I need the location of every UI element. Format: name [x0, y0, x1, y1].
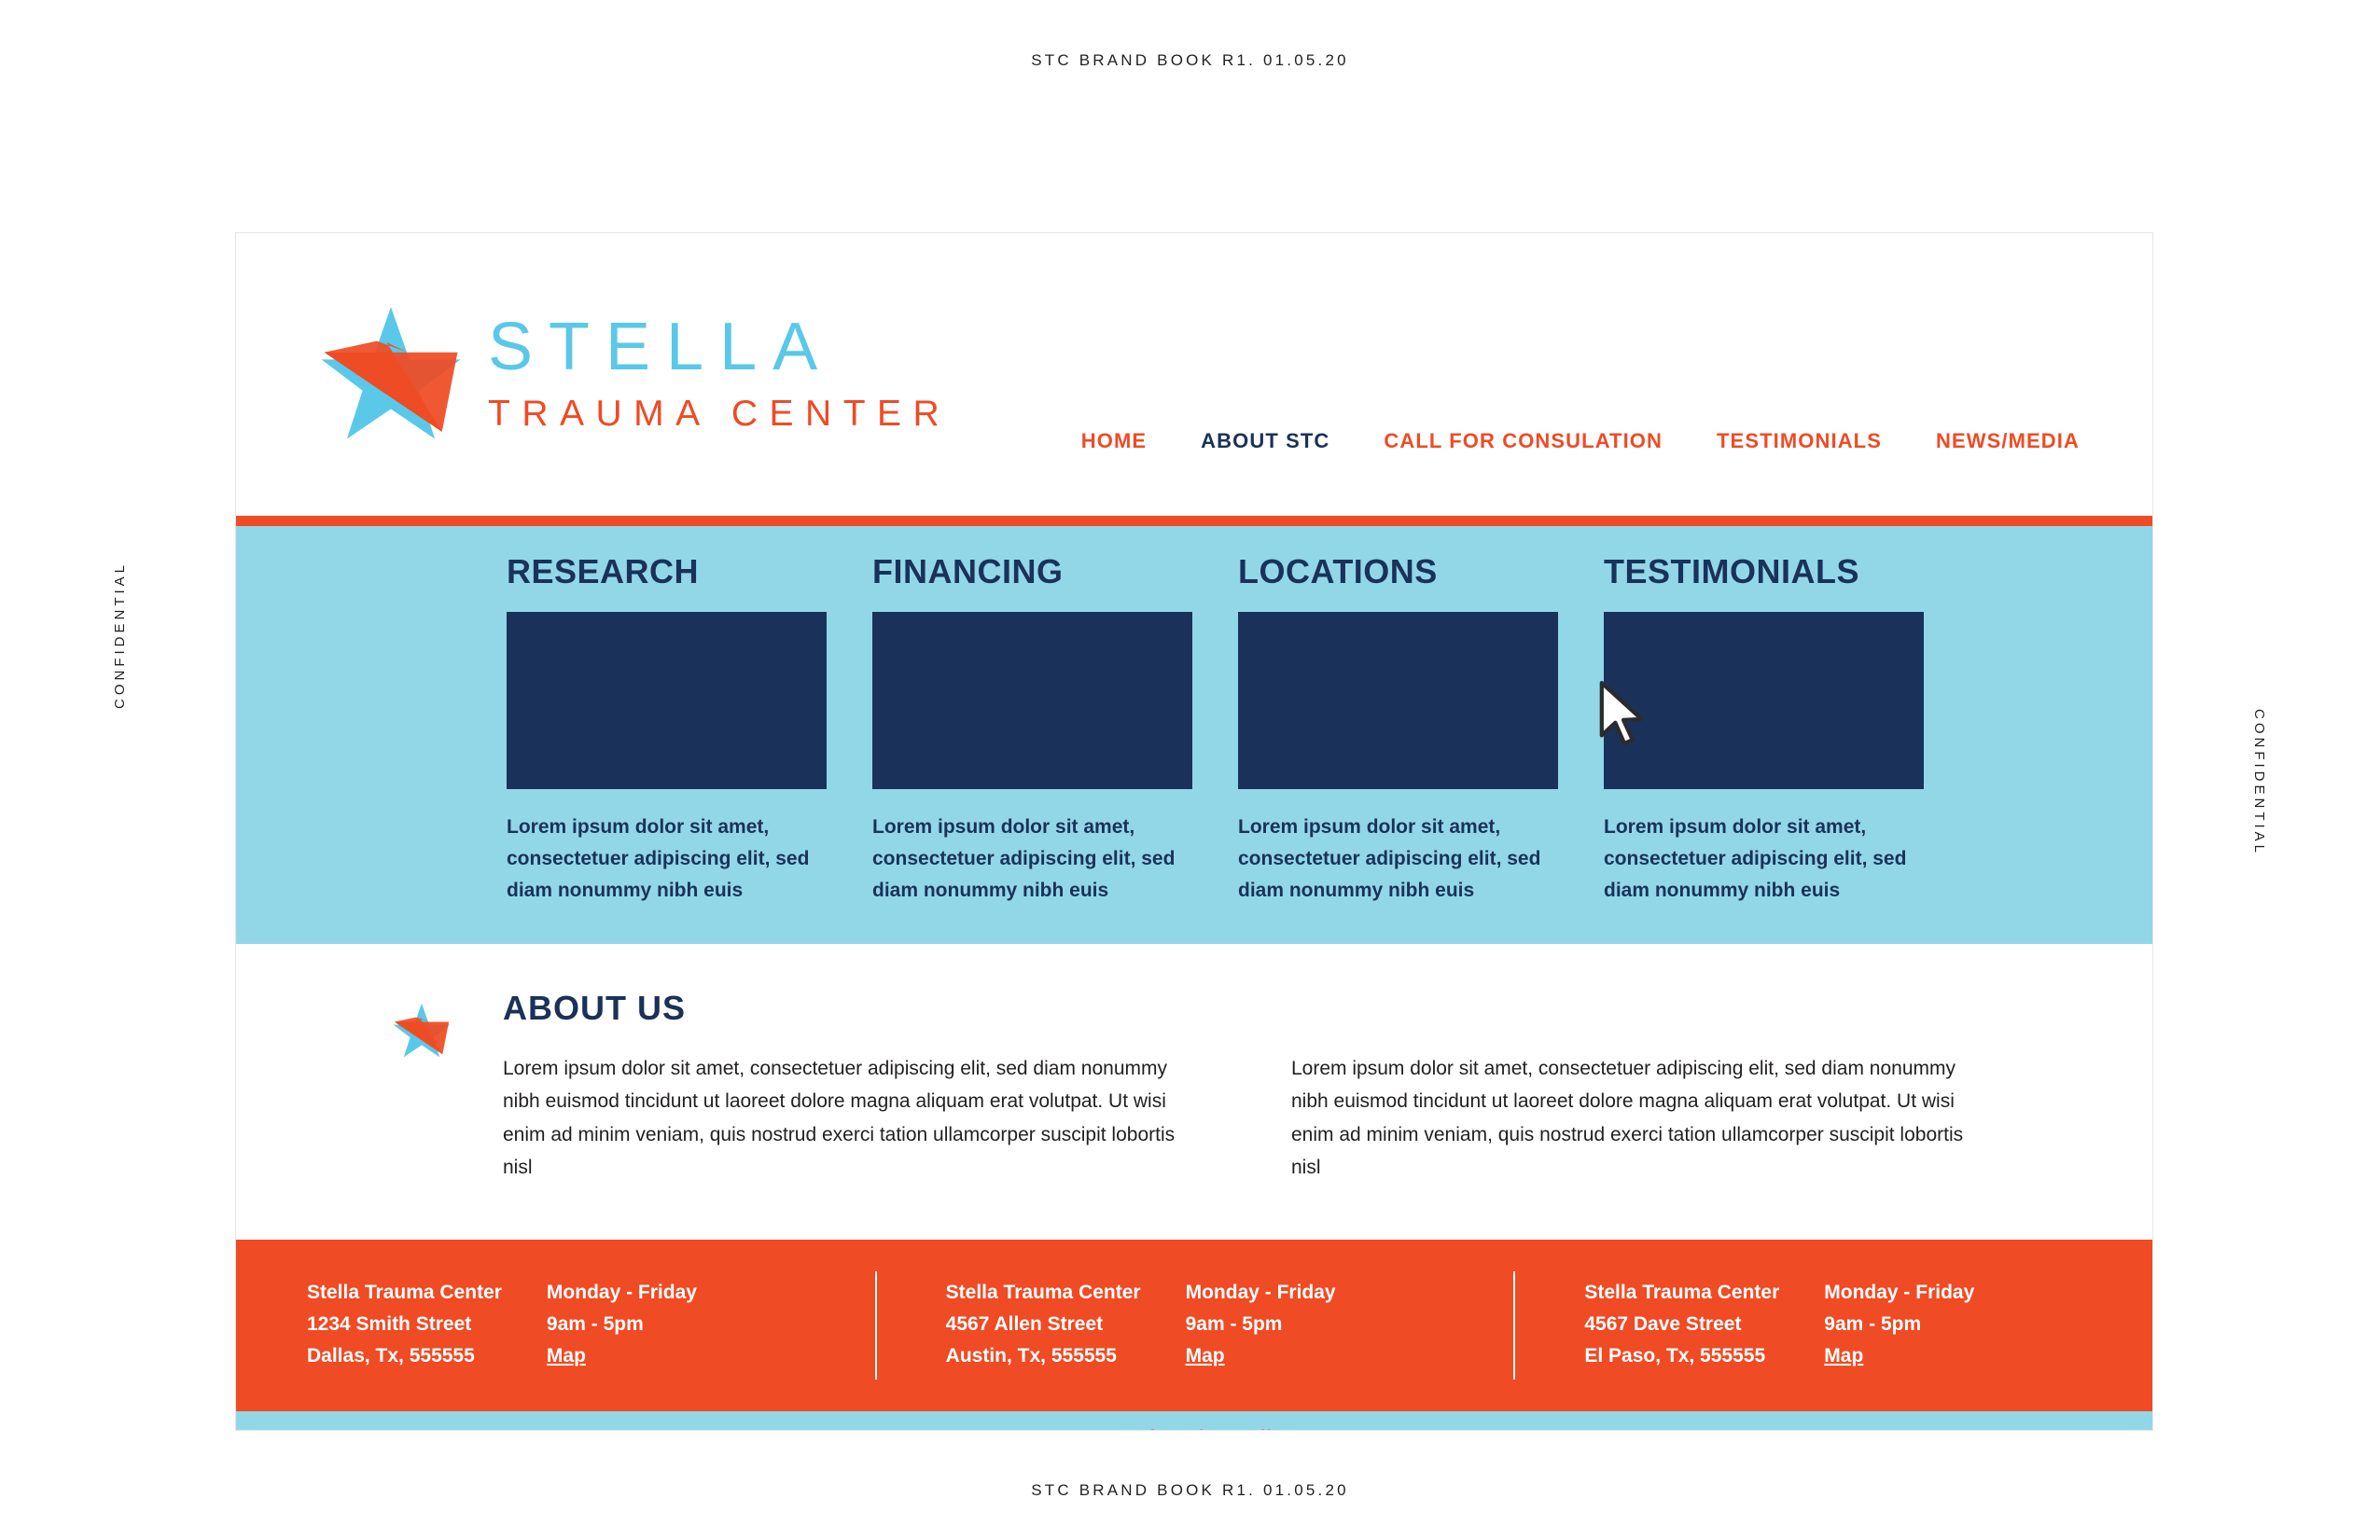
nav-item-about-stc[interactable]: ABOUT STC	[1201, 429, 1329, 453]
nav-item-call-for-consulation[interactable]: CALL FOR CONSULATION	[1384, 429, 1663, 453]
page-slug-top: STC BRAND BOOK R1. 01.05.20	[0, 51, 2380, 70]
footer-location-street: 4567 Dave Street	[1584, 1309, 1779, 1340]
confidential-label-left: CONFIDENTIAL	[112, 562, 128, 709]
footer-location-city: Dallas, Tx, 555555	[307, 1340, 502, 1372]
feature-card-research[interactable]: RESEARCH Lorem ipsum dolor sit amet, con…	[507, 552, 827, 907]
footer-hours-time: 9am - 5pm	[1186, 1309, 1336, 1340]
footer-address-block: Stella Trauma Center 4567 Dave Street El…	[1584, 1277, 1779, 1372]
footer-hours-time: 9am - 5pm	[547, 1309, 697, 1340]
feature-card-title: FINANCING	[872, 552, 1192, 591]
terms-of-use-link[interactable]: Terms of Use/Compliance	[1070, 1427, 1318, 1431]
star-logo-icon	[393, 1000, 451, 1058]
footer-location-street: 1234 Smith Street	[307, 1309, 502, 1340]
feature-card-text: Lorem ipsum dolor sit amet, consectetuer…	[872, 812, 1192, 907]
feature-cards-row: RESEARCH Lorem ipsum dolor sit amet, con…	[236, 552, 2152, 907]
brand-subtitle: TRAUMA CENTER	[488, 395, 951, 432]
footer-map-link[interactable]: Map	[1824, 1345, 1863, 1367]
footer-hours-block: Monday - Friday 9am - 5pm Map	[547, 1277, 697, 1372]
feature-cards-band: RESEARCH Lorem ipsum dolor sit amet, con…	[236, 526, 2152, 944]
site-header: STELLA TRAUMA CENTER HOME ABOUT STC CALL…	[236, 233, 2152, 516]
footer-address-block: Stella Trauma Center 4567 Allen Street A…	[946, 1277, 1141, 1372]
footer-location-street: 4567 Allen Street	[946, 1309, 1141, 1340]
about-us-paragraph-2: Lorem ipsum dolor sit amet, consectetuer…	[1291, 1052, 1968, 1184]
footer-hours-days: Monday - Friday	[1186, 1277, 1336, 1309]
feature-card-image-placeholder	[1604, 612, 1924, 789]
feature-card-text: Lorem ipsum dolor sit amet, consectetuer…	[1238, 812, 1558, 907]
footer-location-el-paso: Stella Trauma Center 4567 Dave Street El…	[1513, 1277, 2152, 1372]
main-nav: HOME ABOUT STC CALL FOR CONSULATION TEST…	[1081, 429, 2080, 453]
feature-card-title: RESEARCH	[507, 552, 827, 591]
about-us-section: ABOUT US Lorem ipsum dolor sit amet, con…	[236, 944, 2152, 1240]
footer-hours-days: Monday - Friday	[547, 1277, 697, 1309]
about-us-body: ABOUT US Lorem ipsum dolor sit amet, con…	[503, 989, 2152, 1184]
feature-card-financing[interactable]: FINANCING Lorem ipsum dolor sit amet, co…	[872, 552, 1192, 907]
star-logo-icon	[320, 298, 462, 440]
nav-item-news-media[interactable]: NEWS/MEDIA	[1936, 429, 2080, 453]
page-slug-bottom: STC BRAND BOOK R1. 01.05.20	[0, 1481, 2380, 1500]
footer-hours-block: Monday - Friday 9am - 5pm Map	[1186, 1277, 1336, 1372]
feature-card-text: Lorem ipsum dolor sit amet, consectetuer…	[507, 812, 827, 907]
footer-hours-days: Monday - Friday	[1824, 1277, 1974, 1309]
footer-address-block: Stella Trauma Center 1234 Smith Street D…	[307, 1277, 502, 1372]
brand-lockup[interactable]: STELLA TRAUMA CENTER	[320, 298, 951, 440]
footer-location-austin: Stella Trauma Center 4567 Allen Street A…	[875, 1277, 1514, 1372]
about-us-title: ABOUT US	[503, 989, 2152, 1028]
footer-hours-block: Monday - Friday 9am - 5pm Map	[1824, 1277, 1974, 1372]
footer-map-link[interactable]: Map	[547, 1345, 586, 1367]
feature-card-image-placeholder	[507, 612, 827, 789]
feature-card-text: Lorem ipsum dolor sit amet, consectetuer…	[1604, 812, 1924, 907]
feature-card-testimonials[interactable]: TESTIMONIALS Lorem ipsum dolor sit amet,…	[1604, 552, 1924, 907]
confidential-label-right: CONFIDENTIAL	[2251, 709, 2267, 856]
nav-item-testimonials[interactable]: TESTIMONIALS	[1717, 429, 1882, 453]
feature-card-locations[interactable]: LOCATIONS Lorem ipsum dolor sit amet, co…	[1238, 552, 1558, 907]
feature-card-image-placeholder	[1238, 612, 1558, 789]
footer-location-city: Austin, Tx, 555555	[946, 1340, 1141, 1372]
website-mockup: STELLA TRAUMA CENTER HOME ABOUT STC CALL…	[235, 232, 2153, 1431]
feature-card-image-placeholder	[872, 612, 1192, 789]
footer-location-city: El Paso, Tx, 555555	[1584, 1340, 1779, 1372]
site-footer: Stella Trauma Center 1234 Smith Street D…	[236, 1240, 2152, 1411]
header-divider-rule	[236, 516, 2152, 526]
feature-card-title: LOCATIONS	[1238, 552, 1558, 591]
footer-location-name: Stella Trauma Center	[1584, 1277, 1779, 1309]
about-us-paragraph-1: Lorem ipsum dolor sit amet, consectetuer…	[503, 1052, 1179, 1184]
footer-location-dallas: Stella Trauma Center 1234 Smith Street D…	[236, 1277, 875, 1372]
footer-location-name: Stella Trauma Center	[307, 1277, 502, 1309]
footer-map-link[interactable]: Map	[1186, 1345, 1225, 1367]
about-us-columns: Lorem ipsum dolor sit amet, consectetuer…	[503, 1052, 2152, 1184]
brand-wordmark: STELLA TRAUMA CENTER	[488, 308, 951, 432]
feature-card-title: TESTIMONIALS	[1604, 552, 1924, 591]
nav-item-home[interactable]: HOME	[1081, 429, 1147, 453]
footer-location-name: Stella Trauma Center	[946, 1277, 1141, 1309]
footer-hours-time: 9am - 5pm	[1824, 1309, 1974, 1340]
brand-name: STELLA	[488, 313, 951, 381]
footer-bottom-bar: Terms of Use/Compliance	[236, 1411, 2152, 1431]
